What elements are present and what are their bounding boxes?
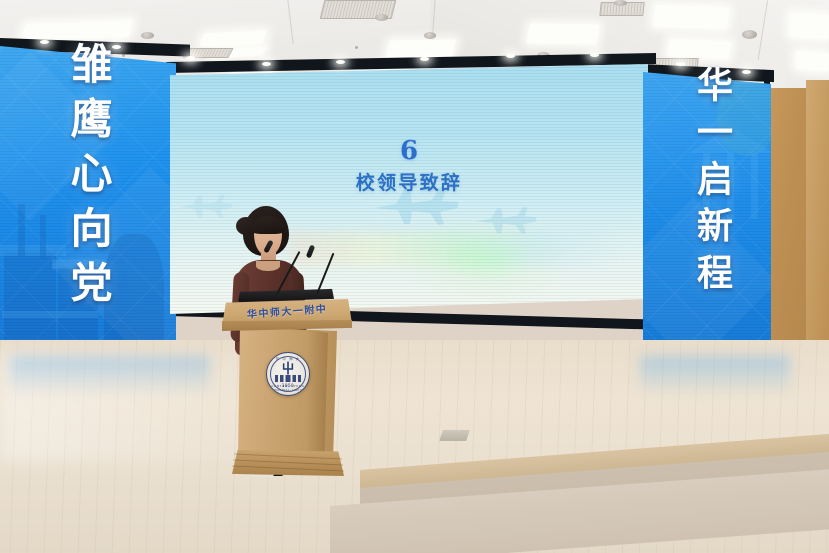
bezel-downlight [186,56,195,60]
emblem-building-glyph [275,375,300,383]
slide-number: 6 [170,136,648,166]
emblem-top-arc-text: 华 中 师 大 [267,356,309,361]
slide-title: 校领导致辞 [170,168,648,195]
podium: 华中师大一附中 华 中 师 大 屮 1950 CENTRAL CHINA NOR… [222,296,352,478]
bezel-downlight [590,53,599,57]
floor-outlet-plate [439,430,470,441]
jet-silhouette-icon [472,204,538,236]
bezel-downlight [676,62,685,66]
school-emblem: 华 中 师 大 屮 1950 CENTRAL CHINA NORMAL UNIV [266,352,310,396]
auditorium-scene: 6 校领导致辞 雏鹰心向党 华 [0,0,829,553]
bezel-downlight [40,40,49,44]
bezel-downlight [262,62,271,66]
pillar [40,215,46,259]
right-screen-slogan: 华一启新程 [686,66,738,300]
bezel-downlight [506,54,515,58]
left-screen-slogan: 雏鹰心向党 [58,42,119,315]
bezel-downlight [742,70,751,74]
speaker-collar [256,261,280,271]
bezel-downlight [420,57,429,61]
bezel-downlight [336,60,345,64]
building-roof [0,245,66,256]
pavilion-pillar [751,153,758,219]
rainbow-flare [290,232,620,266]
emblem-bottom-arc-text: CENTRAL CHINA NORMAL UNIV [267,384,309,392]
podium-body-shadow [306,329,328,457]
